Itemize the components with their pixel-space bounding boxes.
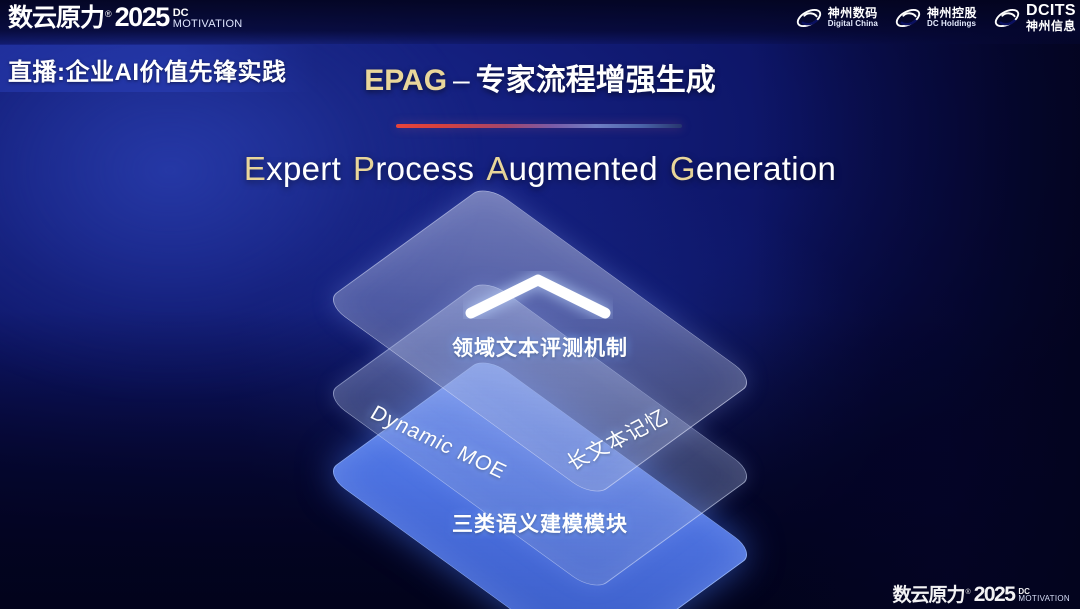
subtitle-cap-p: P (353, 150, 375, 187)
watermark-name-cn: 数云原力 (893, 586, 965, 605)
partner-text: 神州数码 Digital China (828, 7, 878, 28)
subtitle-word-augmented: Augmented (486, 150, 658, 187)
partner-name-cn: 神州信息 (1026, 20, 1076, 33)
partner-name-en: DCITS (1026, 3, 1076, 20)
subtitle-rest-expert: xpert (266, 150, 341, 187)
subtitle-expansion: ExpertProcessAugmentedGeneration (0, 150, 1080, 188)
subtitle-cap-a: A (486, 150, 508, 187)
brand-tagline-line2: MOTIVATION (173, 19, 243, 29)
watermark-tagline-line2: MOTIVATION (1018, 595, 1070, 603)
partner-name-cn: 神州数码 (828, 7, 878, 20)
brand-year: 2025 (115, 4, 169, 31)
brand-registered-mark: ® (105, 10, 112, 19)
partner-logo-dcits: DCITS 神州信息 (993, 3, 1076, 32)
partner-logo-dc-holdings: 神州控股 DC Holdings (894, 4, 977, 32)
watermark-year: 2025 (974, 584, 1015, 605)
partner-text: 神州控股 DC Holdings (927, 7, 977, 28)
presentation-slide: 数云原力 ® 2025 DC MOTIVATION 直播:企业AI价值先锋实践 … (0, 0, 1080, 609)
swirl-logo-icon (993, 4, 1021, 32)
watermark-tagline: DC MOTIVATION (1018, 588, 1070, 603)
brand-name-cn: 数云原力 (8, 6, 104, 31)
subtitle-rest-augmented: ugmented (509, 150, 658, 187)
page-title: EPAG–专家流程增强生成 (0, 55, 1080, 99)
title-acronym: EPAG (364, 64, 447, 97)
subtitle-rest-process: rocess (375, 150, 474, 187)
subtitle-word-process: Process (353, 150, 474, 187)
footer-watermark-logo: 数云原力 ® 2025 DC MOTIVATION (893, 584, 1071, 605)
brand-logo: 数云原力 ® 2025 DC MOTIVATION (8, 4, 243, 31)
brand-tagline: DC MOTIVATION (173, 8, 243, 29)
partner-name-en: Digital China (828, 20, 878, 28)
watermark-registered-mark: ® (966, 589, 971, 596)
partner-logo-group: 神州数码 Digital China 神州控股 DC Holdings (795, 3, 1076, 32)
swirl-logo-icon (795, 4, 823, 32)
swirl-logo-icon (894, 4, 922, 32)
brand-tagline-line1: DC (173, 8, 243, 18)
subtitle-word-generation: Generation (670, 150, 836, 187)
title-divider (396, 124, 682, 128)
partner-name-cn: 神州控股 (927, 7, 977, 20)
partner-text: DCITS 神州信息 (1026, 3, 1076, 32)
title-chinese: 专家流程增强生成 (476, 64, 716, 97)
title-dash: – (447, 64, 476, 97)
subtitle-cap-e: E (244, 150, 266, 187)
subtitle-word-expert: Expert (244, 150, 341, 187)
partner-logo-digital-china: 神州数码 Digital China (795, 4, 878, 32)
partner-name-en: DC Holdings (927, 20, 977, 28)
subtitle-cap-g: G (670, 150, 696, 187)
subtitle-rest-generation: eneration (696, 150, 836, 187)
